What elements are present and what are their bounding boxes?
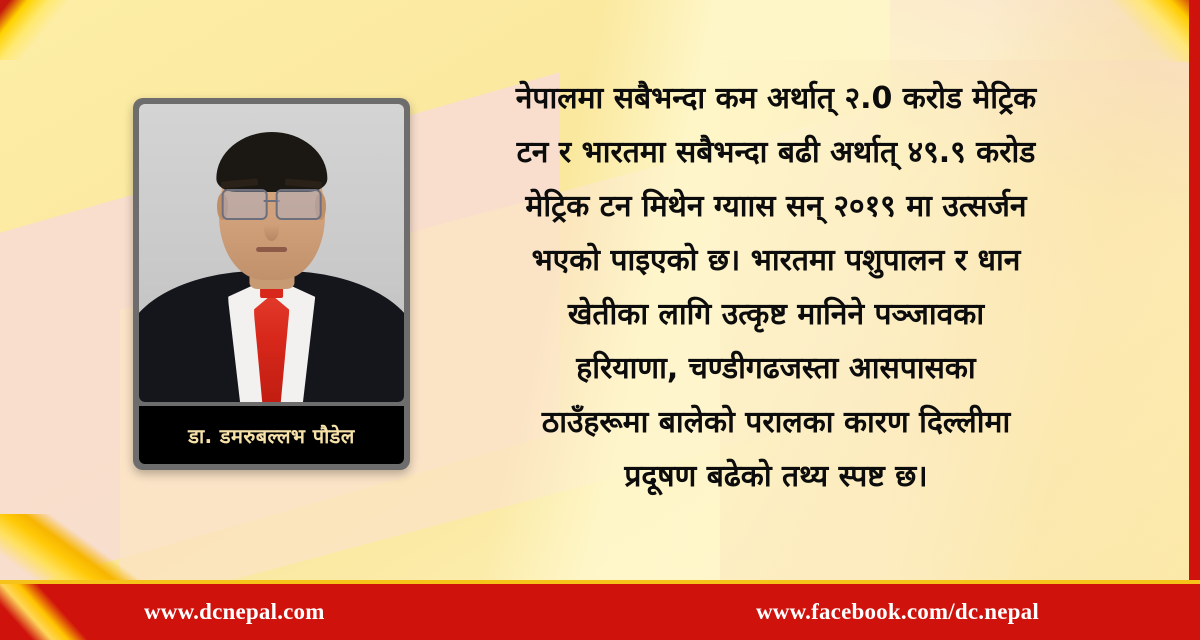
quote-line: ठाउँहरूमा बालेको परालका कारण दिल्लीमा (424, 396, 1128, 450)
news-quote-card: डा. डमरुबल्लभ पौडेल नेपालमा सबैभन्दा कम … (0, 0, 1200, 640)
quote-line: मेट्रिक टन मिथेन ग्याास सन् २०१९ मा उत्स… (424, 180, 1128, 234)
portrait-name-plate: डा. डमरुबल्लभ पौडेल (139, 406, 404, 464)
quote-line: हरियाणा, चण्डीगढजस्ता आसपासका (424, 342, 1128, 396)
quote-line: नेपालमा सबैभन्दा कम अर्थात् २.0 करोड मेट… (424, 72, 1128, 126)
facebook-url-link[interactable]: www.facebook.com/dc.nepal (756, 599, 1039, 625)
quote-line: प्रदूषण बढेको तथ्य स्पष्ट छ। (424, 450, 1128, 504)
website-url-link[interactable]: www.dcnepal.com (144, 599, 325, 625)
right-edge-stripe (1189, 0, 1200, 640)
footer-inner: www.dcnepal.com www.facebook.com/dc.nepa… (0, 584, 1200, 640)
quote-line: खेतीका लागि उत्कृष्ट मानिने पञ्जावका (424, 288, 1128, 342)
quote-line: टन र भारतमा सबैभन्दा बढी अर्थात् ४९.९ कर… (424, 126, 1128, 180)
quote-text-block: नेपालमा सबैभन्दा कम अर्थात् २.0 करोड मेट… (424, 72, 1128, 504)
quote-line: भएको पाइएको छ। भारतमा पशुपालन र धान (424, 234, 1128, 288)
footer-swoosh-decoration (0, 584, 130, 640)
eyeglasses-icon (221, 189, 322, 216)
portrait-caption-text: डा. डमरुबल्लभ पौडेल (188, 422, 354, 449)
portrait-card: डा. डमरुबल्लभ पौडेल (133, 98, 410, 470)
footer-bar: www.dcnepal.com www.facebook.com/dc.nepa… (0, 580, 1200, 640)
portrait-frame: डा. डमरुबल्लभ पौडेल (133, 98, 410, 470)
mouth (256, 247, 288, 252)
eyeglass-lens-right (276, 189, 322, 220)
portrait-photo (139, 104, 404, 402)
eyeglass-lens-left (221, 189, 267, 220)
